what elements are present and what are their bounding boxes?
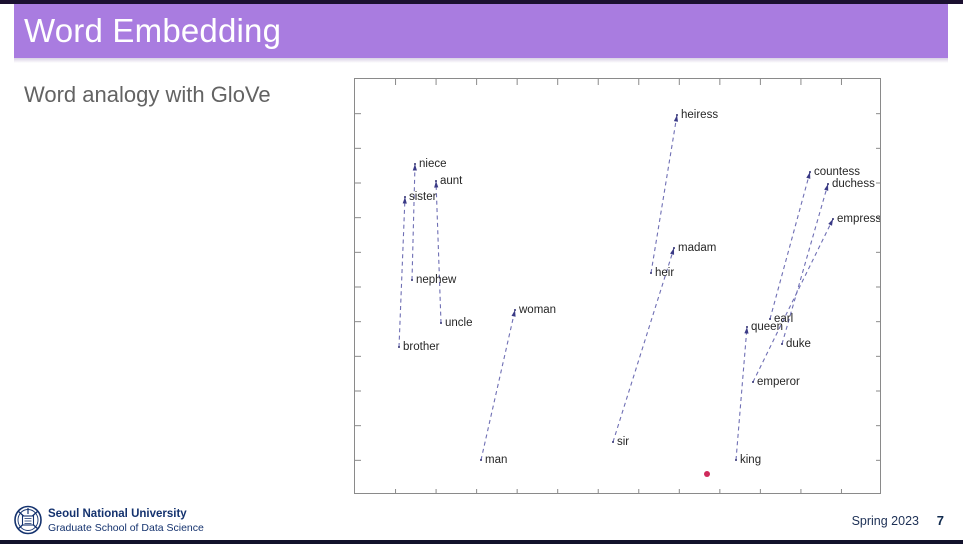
- word-label-man: man: [485, 454, 507, 466]
- slide: Word Embedding Word analogy with GloVe n…: [0, 0, 963, 544]
- word-label-heiress: heiress: [681, 109, 718, 121]
- footer-rule: [0, 540, 963, 544]
- title-banner-shadow: [14, 58, 948, 63]
- term-label: Spring 2023: [852, 514, 919, 528]
- word-label-queen: queen: [751, 321, 783, 333]
- word-label-heir: heir: [655, 267, 674, 279]
- word-label-duke: duke: [786, 338, 811, 350]
- word-analogy-scatter-plot: nieceauntsisternephewunclebrotherwomanma…: [354, 78, 881, 494]
- word-label-emperor: emperor: [757, 376, 800, 388]
- word-label-sir: sir: [617, 436, 629, 448]
- word-label-countess: countess: [814, 166, 860, 178]
- footer-org-name: Seoul National University: [48, 507, 204, 521]
- footer-org: Seoul National University Graduate Schoo…: [48, 507, 204, 535]
- word-label-madam: madam: [678, 242, 716, 254]
- word-label-king: king: [740, 454, 761, 466]
- word-label-empress: empress: [837, 213, 881, 225]
- word-label-sister: sister: [409, 191, 436, 203]
- page-number: 7: [937, 513, 944, 528]
- analogy-arrows: [399, 115, 833, 460]
- word-label-nephew: nephew: [416, 274, 456, 286]
- word-label-aunt: aunt: [440, 175, 462, 187]
- slide-subtitle: Word analogy with GloVe: [24, 81, 271, 109]
- word-label-uncle: uncle: [445, 317, 473, 329]
- word-label-duchess: duchess: [832, 178, 875, 190]
- highlight-point: [704, 471, 710, 477]
- arrow-heads: [403, 115, 833, 334]
- word-label-niece: niece: [419, 158, 447, 170]
- axis-ticks: [355, 79, 881, 494]
- word-label-brother: brother: [403, 341, 439, 353]
- snu-crest-icon: [13, 505, 43, 537]
- page-title: Word Embedding: [24, 9, 281, 53]
- word-label-woman: woman: [519, 304, 556, 316]
- footer-org-unit: Graduate School of Data Science: [48, 521, 204, 535]
- plot-svg: [355, 79, 881, 494]
